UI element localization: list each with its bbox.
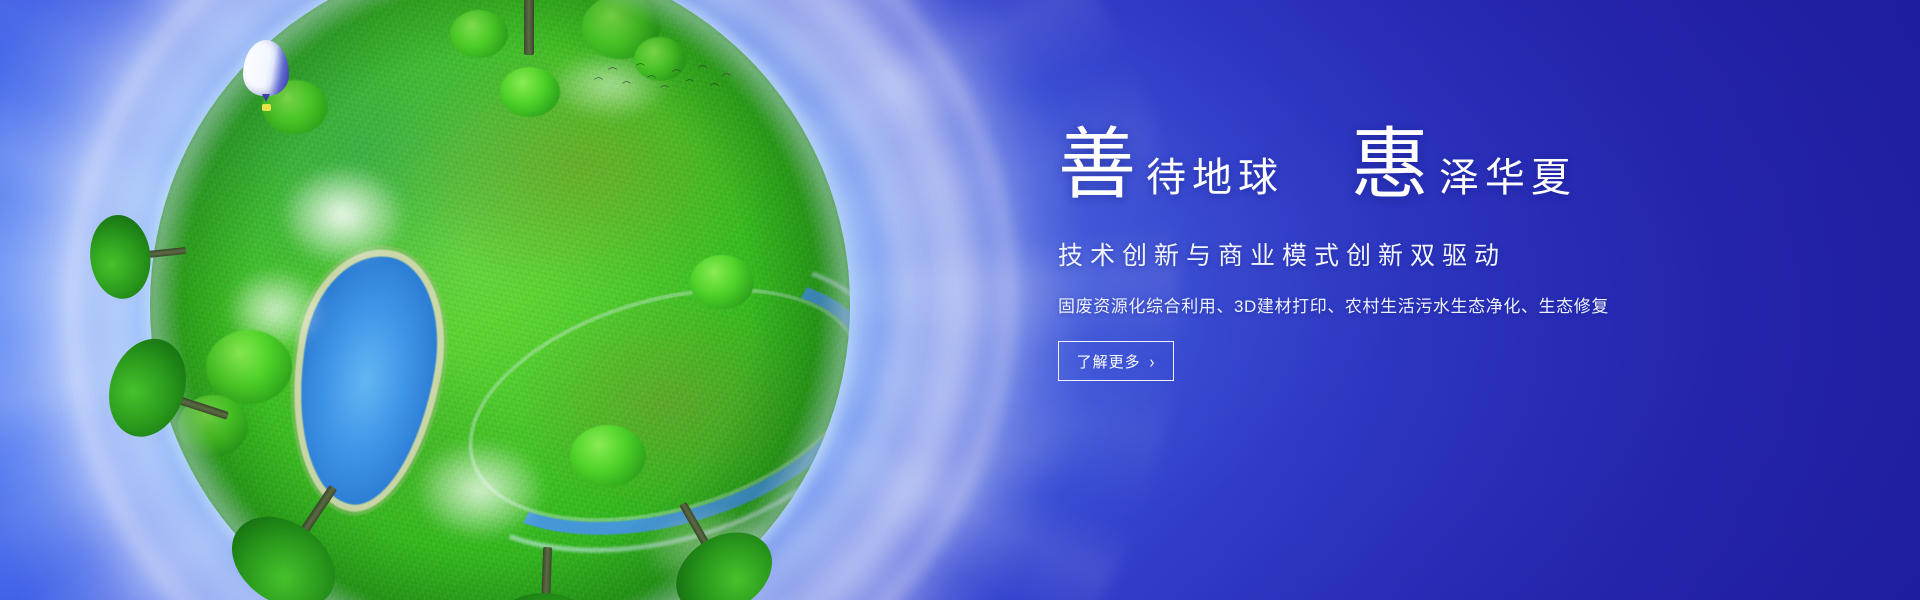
hero-copy: 善 待地球 惠 泽华夏 技术创新与商业模式创新双驱动 固废资源化综合利用、3D建… [1058, 126, 1778, 381]
learn-more-button[interactable]: 了解更多 › [1058, 341, 1174, 381]
learn-more-label: 了解更多 [1077, 351, 1141, 372]
chevron-right-icon: › [1150, 352, 1156, 370]
headline-rest-one: 待地球 [1136, 158, 1284, 204]
headline: 善 待地球 惠 泽华夏 [1058, 126, 1778, 222]
headline-emphasis-one: 善 [1058, 126, 1136, 204]
headline-group-one: 善 待地球 [1058, 126, 1284, 204]
headline-rest-two: 泽华夏 [1429, 158, 1577, 204]
description: 固废资源化综合利用、3D建材打印、农村生活污水生态净化、生态修复 [1058, 292, 1778, 317]
headline-emphasis-two: 惠 [1351, 126, 1429, 204]
headline-group-two: 惠 泽华夏 [1351, 126, 1577, 204]
hero-banner: ︵ ︵ ︵ ︵ ︵ ︵ ︵ ︵ ︵ ︵ ︵ 善 待地球 惠 泽华夏 技术创新与商… [0, 0, 1920, 600]
subtitle: 技术创新与商业模式创新双驱动 [1058, 236, 1778, 272]
